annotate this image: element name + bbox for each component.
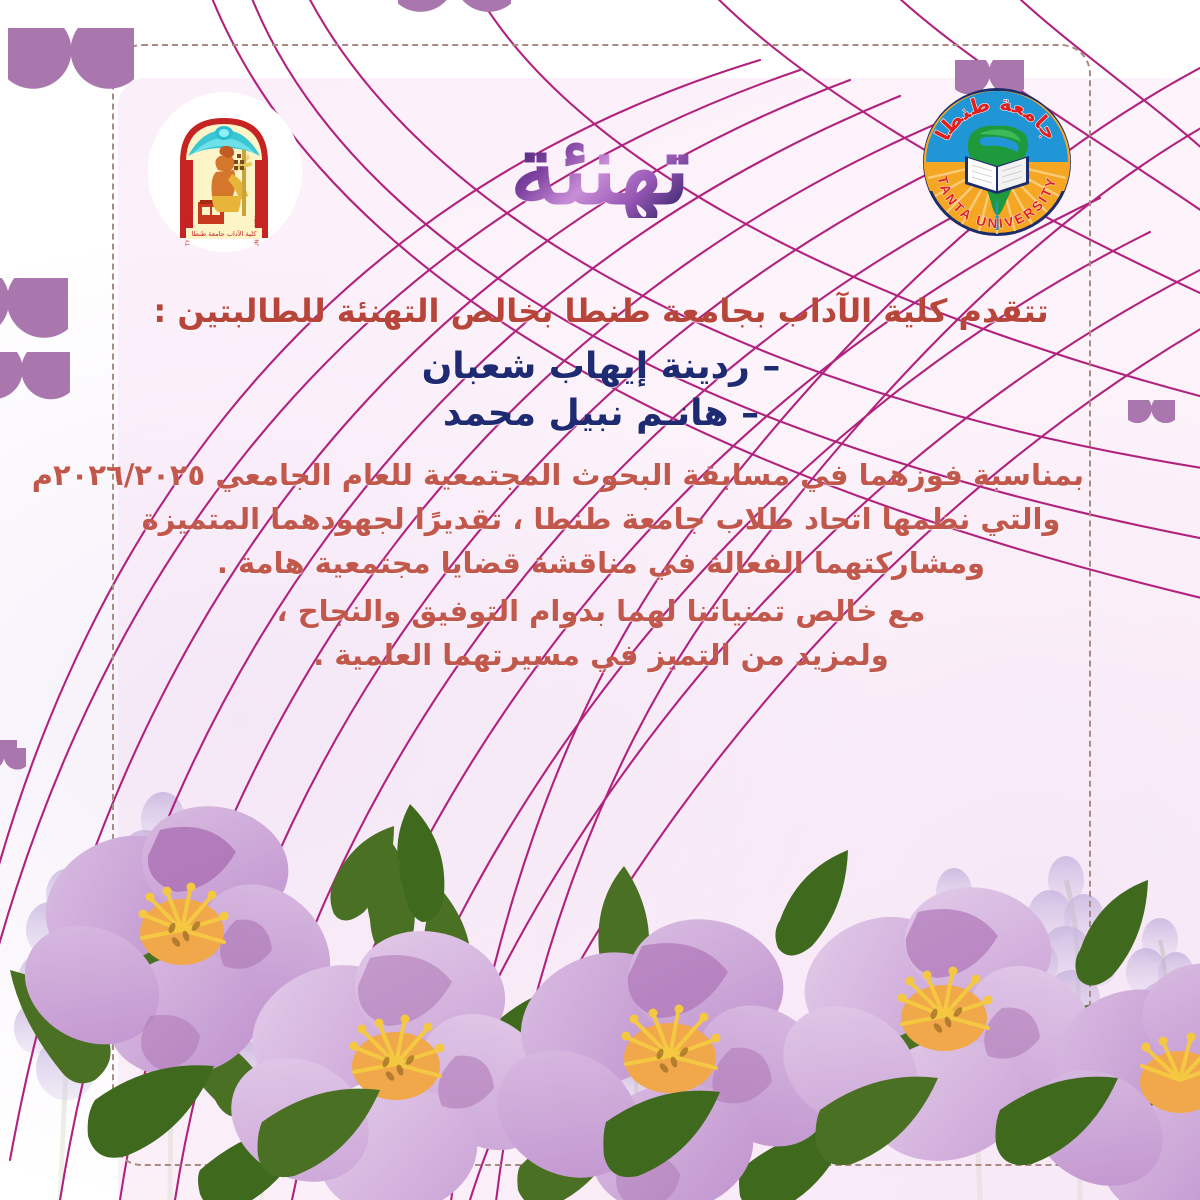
heart-decor-left-bottom [0, 748, 40, 802]
body-line-3: ومشاركتهما الفعالة في مناقشة قضايا مجتمع… [118, 546, 1084, 580]
faculty-logo-caption: كلية الآداب جامعة طنطا [192, 229, 258, 238]
body-line-5: ولمزيد من التميز في مسيرتهما العلمية . [118, 638, 1084, 672]
faculty-of-arts-logo-icon: FACULTY OF ARTS TANTA UNIVERSITY كلية ال… [162, 104, 286, 246]
heart-decor-mid-left [98, 862, 164, 922]
faculty-of-arts-logo: FACULTY OF ARTS TANTA UNIVERSITY كلية ال… [162, 104, 286, 246]
body-line-1: بمناسبة فوزهما في مسابقة البحوث المجتمعي… [118, 458, 1084, 492]
congratulations-poster: FACULTY OF ARTS TANTA UNIVERSITY كلية ال… [0, 0, 1200, 1200]
page-title: تهنئة [510, 122, 690, 218]
body-line-4: مع خالص تمنياتنا لهما بدوام التوفيق والن… [118, 594, 1084, 628]
winner-name-2: – هانـم نبيل محمد [118, 393, 1084, 434]
heart-decor-top-right-small [770, 0, 834, 22]
body-line-2: والتي نظمها اتحاد طلاب جامعة طنطا ، تقدي… [118, 502, 1084, 536]
calligraphy-word: تهنئة [510, 122, 690, 218]
tanta-university-logo-icon: جامعة طنطا TANTA UNIVERSITY [921, 86, 1073, 238]
message-block: تتقدم كلية الآداب بجامعة طنطا بخالص الته… [118, 292, 1084, 672]
tanta-university-logo: جامعة طنطا TANTA UNIVERSITY [921, 86, 1073, 238]
heart-decor-right-mid [1128, 400, 1190, 458]
heart-decor-top-center [398, 0, 548, 96]
heart-decor-left-lower [0, 352, 102, 470]
intro-line: تتقدم كلية الآداب بجامعة طنطا بخالص الته… [118, 292, 1084, 330]
winner-name-1: – ردينة إيهاب شعبان [118, 346, 1084, 387]
